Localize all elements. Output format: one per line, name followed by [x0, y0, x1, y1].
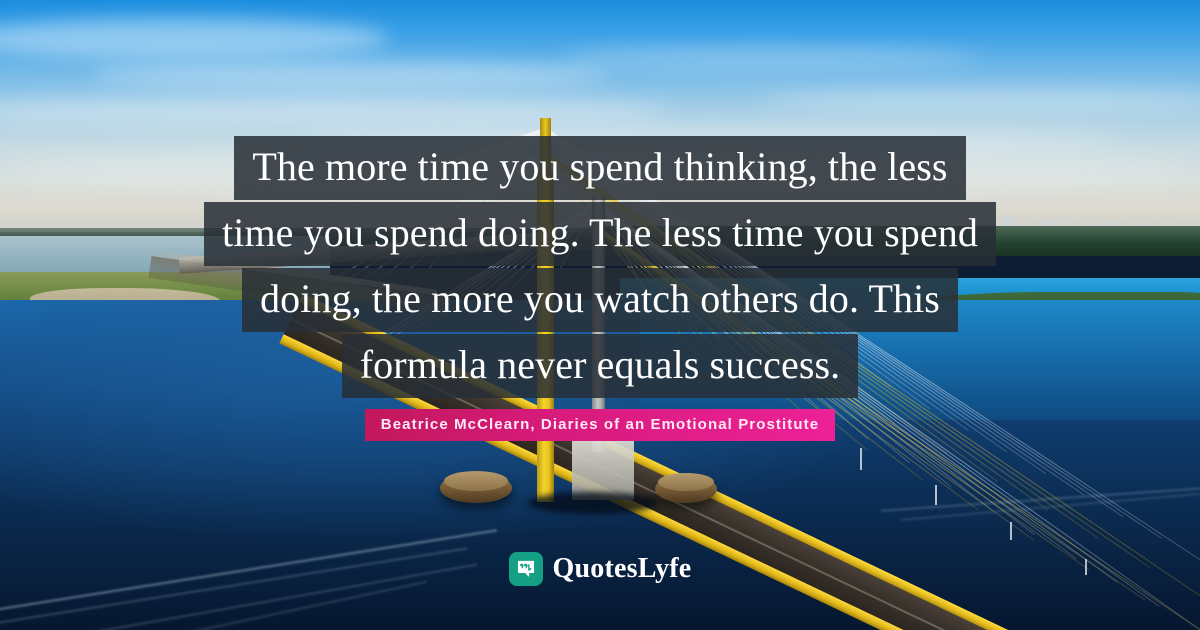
quote-card: The more time you spend thinking, the le…: [0, 0, 1200, 630]
bridge-pier: [572, 440, 634, 500]
site-logo[interactable]: QuotesLyfe: [0, 552, 1200, 586]
pier-shadow: [528, 492, 658, 514]
light-pole: [860, 448, 862, 470]
logo-wordmark: QuotesLyfe: [553, 553, 692, 585]
quote-line: doing, the more you watch others do. Thi…: [242, 268, 958, 332]
quote-line: formula never equals success.: [342, 334, 859, 398]
light-pole: [1010, 522, 1012, 540]
quote-bubble-icon: [509, 552, 543, 586]
attribution-container: Beatrice McClearn, Diaries of an Emotion…: [0, 409, 1200, 441]
quote-line: The more time you spend thinking, the le…: [234, 136, 965, 200]
light-pole: [935, 485, 937, 505]
caisson-top: [658, 473, 714, 491]
quote-line: time you spend doing. The less time you …: [204, 202, 996, 266]
caisson-top: [444, 471, 508, 491]
quote-text: The more time you spend thinking, the le…: [0, 0, 1200, 398]
attribution-banner: Beatrice McClearn, Diaries of an Emotion…: [365, 409, 835, 441]
